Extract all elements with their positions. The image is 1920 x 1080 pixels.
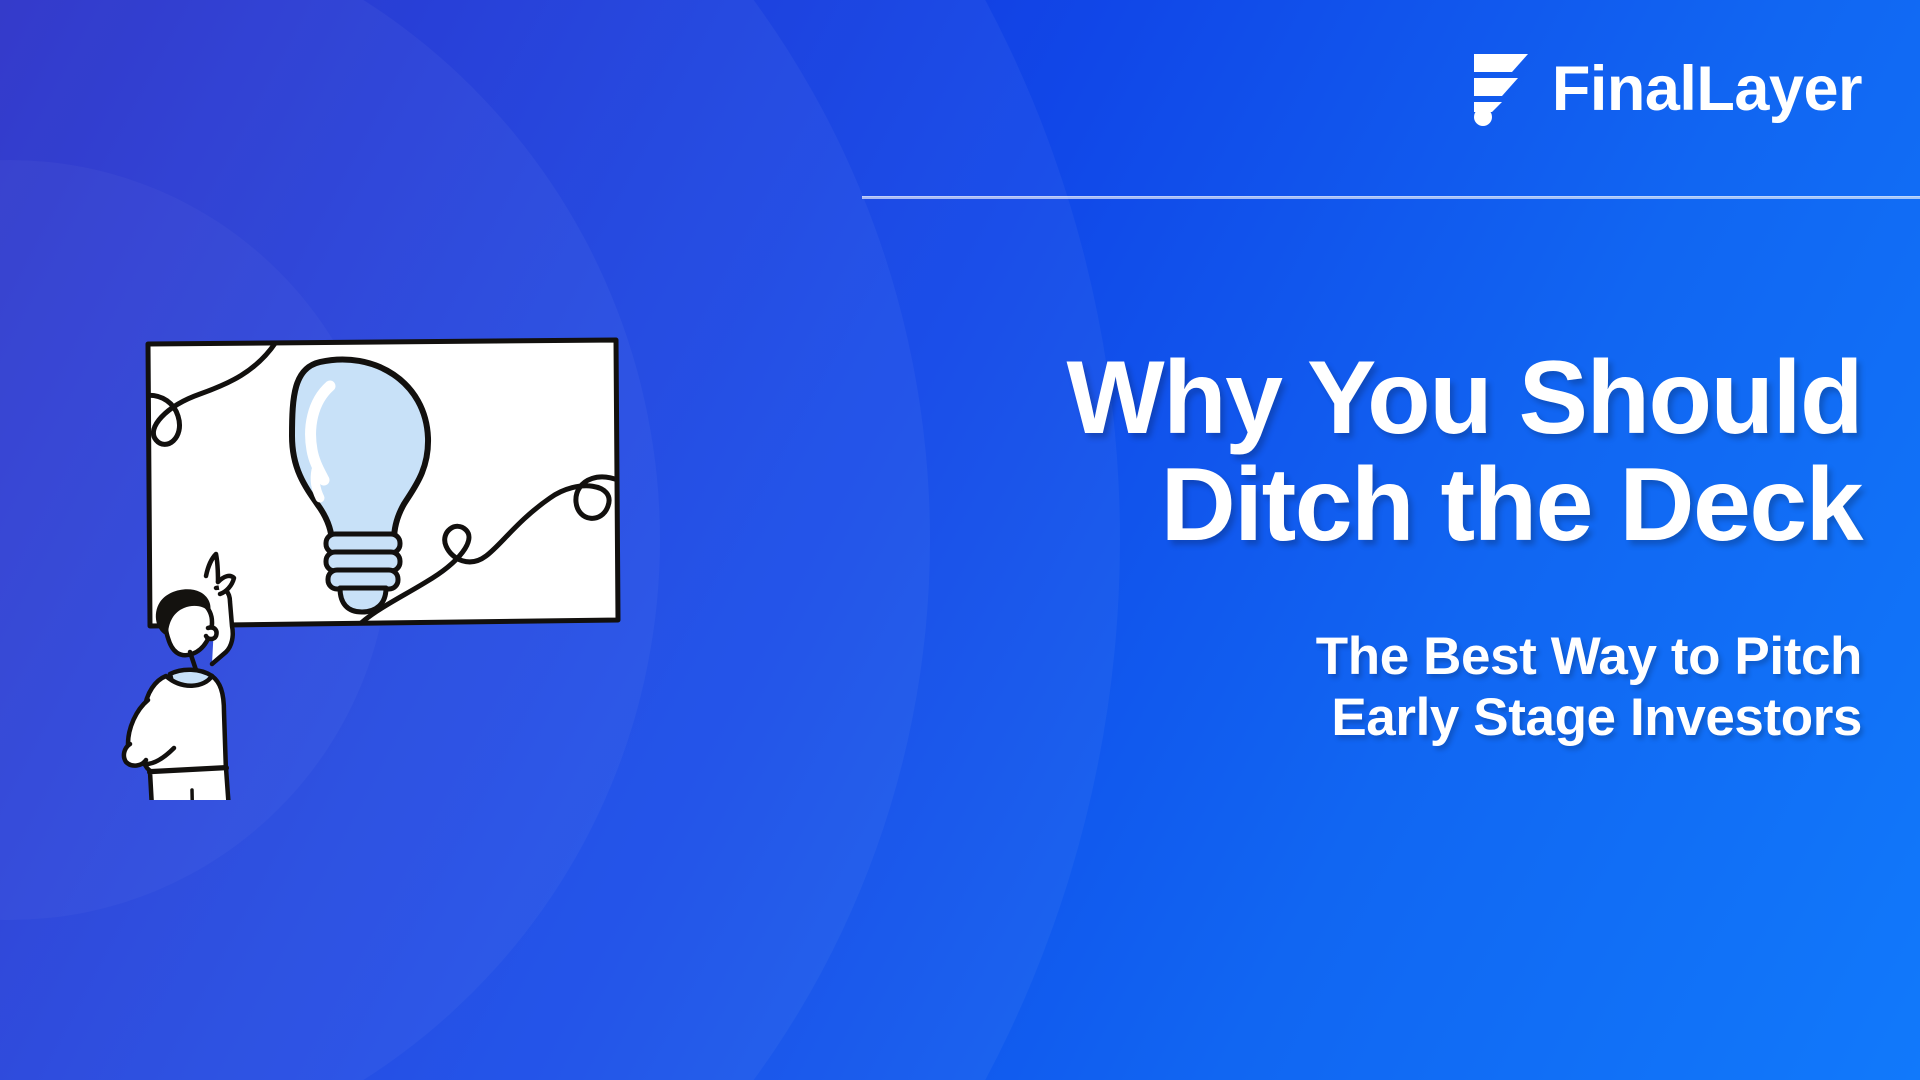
- hero-text-column: Why You Should Ditch the Deck The Best W…: [802, 345, 1862, 749]
- slide-canvas: FinalLayer Why You Should Ditch the Deck…: [0, 0, 1920, 1080]
- hero-illustration: [108, 320, 668, 800]
- page-subtitle: The Best Way to Pitch Early Stage Invest…: [802, 627, 1862, 749]
- brand-logo[interactable]: FinalLayer: [1472, 52, 1862, 126]
- header-divider: [862, 196, 1920, 199]
- finallayer-f-mark-icon: [1472, 52, 1532, 126]
- brand-name: FinalLayer: [1552, 58, 1862, 121]
- page-title: Why You Should Ditch the Deck: [802, 345, 1862, 559]
